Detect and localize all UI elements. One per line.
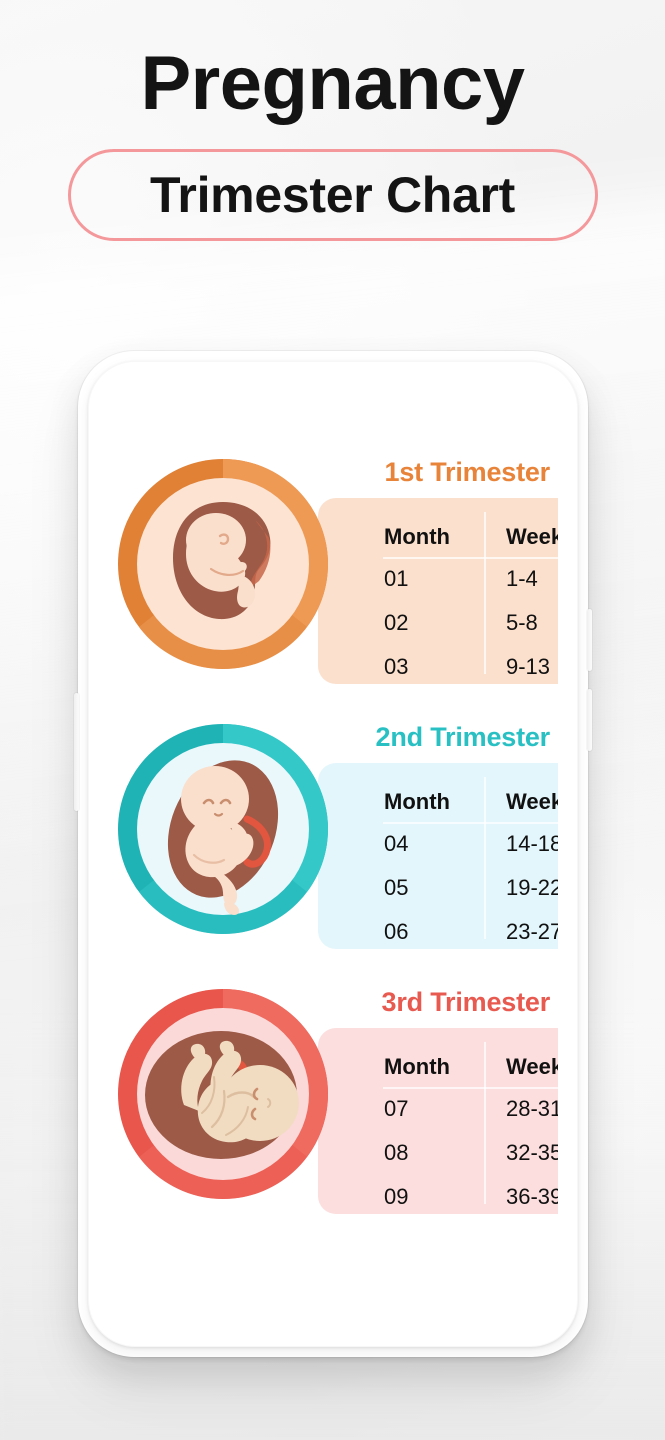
trimester-2-table: Month Weeks 04 14-18 05 19-22 bbox=[383, 763, 558, 949]
subtitle-pill-label: Trimester Chart bbox=[150, 166, 515, 224]
table-row: 06 23-27 bbox=[383, 910, 558, 954]
column-header-weeks: Weeks bbox=[485, 789, 558, 815]
cell-month: 09 bbox=[383, 1184, 485, 1210]
phone-bezel: 1st Trimester Month Weeks 01 1-4 bbox=[88, 361, 578, 1347]
cell-month: 01 bbox=[383, 566, 485, 592]
trimester-2-heading: 2nd Trimester bbox=[376, 722, 550, 753]
page-header: Pregnancy Trimester Chart bbox=[0, 0, 665, 241]
table-row: 07 28-31 bbox=[383, 1087, 558, 1131]
cell-month: 04 bbox=[383, 831, 485, 857]
cell-month: 05 bbox=[383, 875, 485, 901]
trimester-3-table-panel: Month Weeks 07 28-31 08 32-35 bbox=[318, 1028, 558, 1214]
cell-weeks: 14-18 bbox=[485, 831, 558, 857]
phone-right-upper-button[interactable] bbox=[587, 609, 592, 671]
phone-left-volume-button[interactable] bbox=[74, 693, 79, 811]
column-header-month: Month bbox=[383, 789, 485, 815]
trimester-3-heading: 3rd Trimester bbox=[382, 987, 550, 1018]
trimester-1-table-panel: Month Weeks 01 1-4 02 5-8 bbox=[318, 498, 558, 684]
subtitle-pill: Trimester Chart bbox=[68, 149, 598, 241]
cell-month: 06 bbox=[383, 919, 485, 945]
cell-weeks: 5-8 bbox=[485, 610, 558, 636]
trimester-1-heading: 1st Trimester bbox=[385, 457, 551, 488]
table-header-row: Month Weeks bbox=[383, 1047, 558, 1087]
cell-weeks: 23-27 bbox=[485, 919, 558, 945]
table-row: 05 19-22 bbox=[383, 866, 558, 910]
cell-weeks: 9-13 bbox=[485, 654, 558, 680]
trimester-2-table-panel: Month Weeks 04 14-18 05 19-22 bbox=[318, 763, 558, 949]
column-header-month: Month bbox=[383, 524, 485, 550]
table-row: 09 36-39 bbox=[383, 1175, 558, 1219]
cell-month: 07 bbox=[383, 1096, 485, 1122]
cell-month: 08 bbox=[383, 1140, 485, 1166]
cell-month: 03 bbox=[383, 654, 485, 680]
trimester-3-table: Month Weeks 07 28-31 08 32-35 bbox=[383, 1028, 558, 1214]
column-header-month: Month bbox=[383, 1054, 485, 1080]
page-background: Pregnancy Trimester Chart 1st Trimester bbox=[0, 0, 665, 1440]
table-row: 01 1-4 bbox=[383, 557, 558, 601]
cell-weeks: 19-22 bbox=[485, 875, 558, 901]
embryo-first-trimester-icon bbox=[116, 457, 330, 671]
table-row: 04 14-18 bbox=[383, 822, 558, 866]
cell-month: 02 bbox=[383, 610, 485, 636]
column-header-weeks: Weeks bbox=[485, 1054, 558, 1080]
table-row: 08 32-35 bbox=[383, 1131, 558, 1175]
page-title: Pregnancy bbox=[0, 46, 665, 122]
trimester-1-table: Month Weeks 01 1-4 02 5-8 bbox=[383, 498, 558, 684]
table-header-row: Month Weeks bbox=[383, 782, 558, 822]
phone-mockup: 1st Trimester Month Weeks 01 1-4 bbox=[78, 351, 588, 1357]
table-header-row: Month Weeks bbox=[383, 517, 558, 557]
fetus-third-trimester-icon bbox=[116, 987, 330, 1201]
cell-weeks: 36-39 bbox=[485, 1184, 558, 1210]
phone-right-lower-button[interactable] bbox=[587, 689, 592, 751]
column-header-weeks: Weeks bbox=[485, 524, 558, 550]
fetus-second-trimester-icon bbox=[116, 722, 330, 936]
phone-screen: 1st Trimester Month Weeks 01 1-4 bbox=[108, 381, 558, 1327]
table-row: 03 9-13 bbox=[383, 645, 558, 689]
cell-weeks: 28-31 bbox=[485, 1096, 558, 1122]
cell-weeks: 32-35 bbox=[485, 1140, 558, 1166]
cell-weeks: 1-4 bbox=[485, 566, 558, 592]
table-row: 02 5-8 bbox=[383, 601, 558, 645]
